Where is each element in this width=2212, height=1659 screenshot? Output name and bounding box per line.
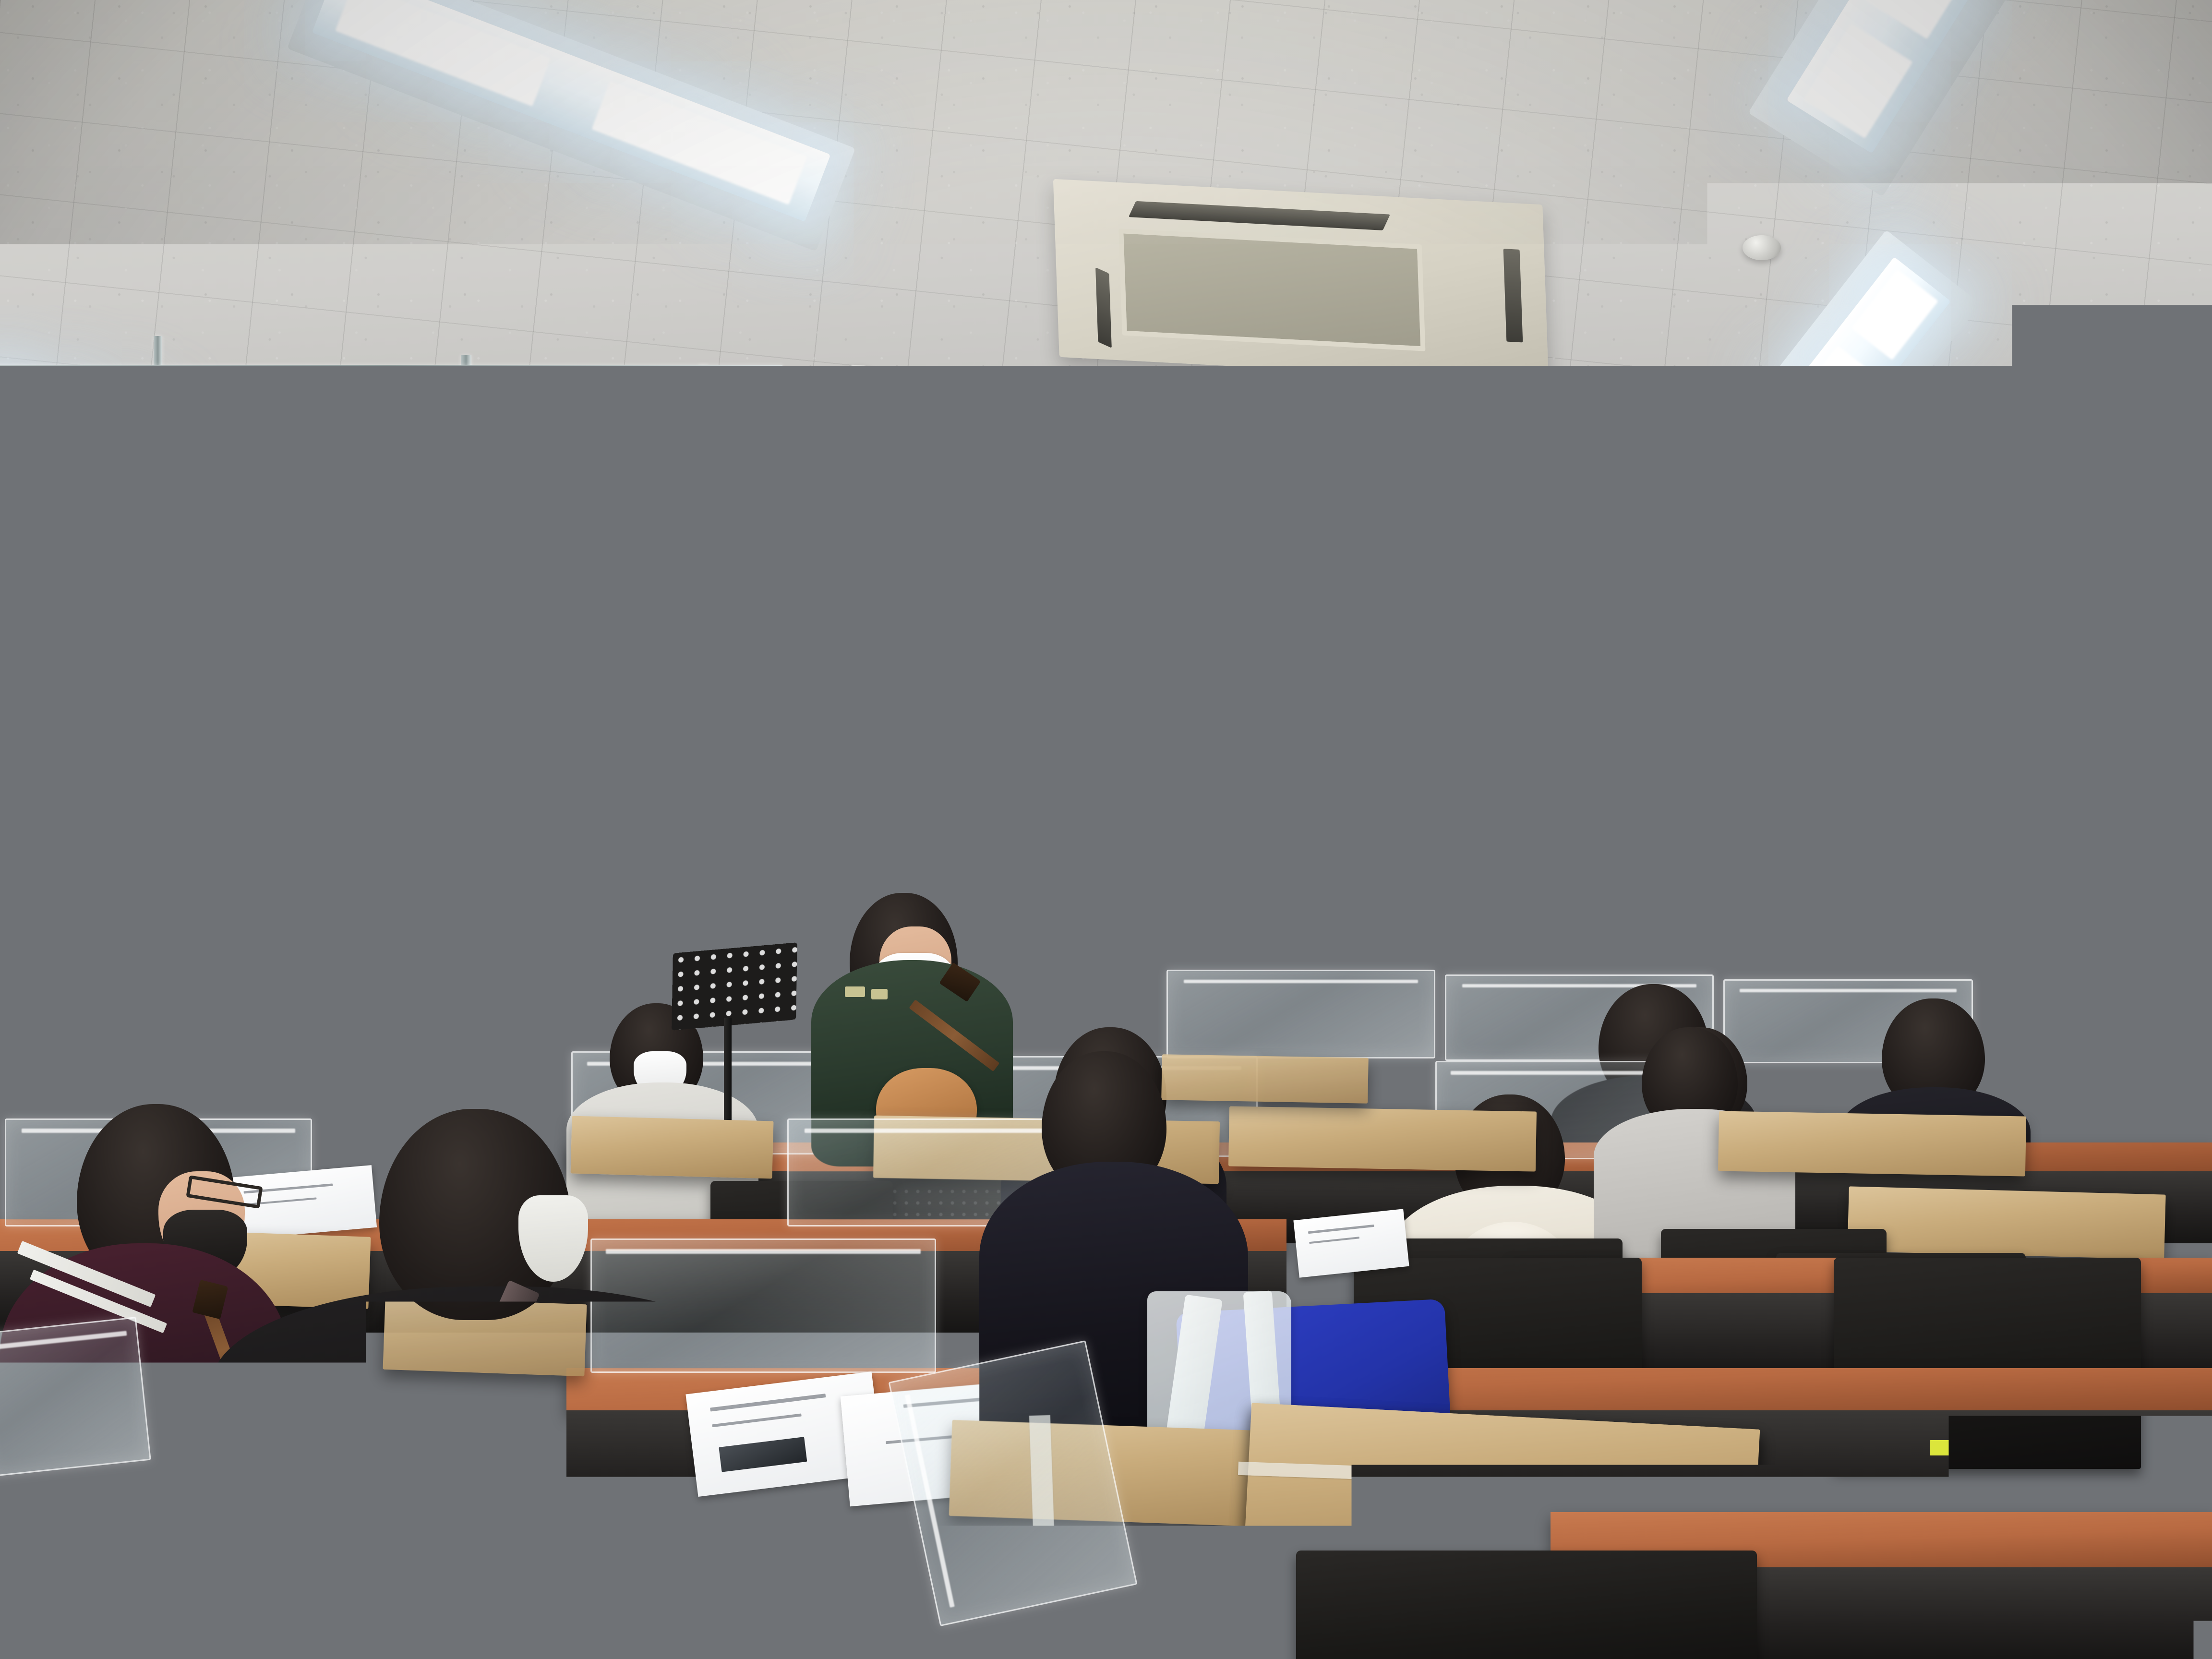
ac-filter-panel: [1118, 228, 1426, 351]
slide-note-text: 손목을 악기의 헤드쪽으로 약 45도 정도 틀어주지: [1517, 778, 1771, 803]
glass-reflection-1: [15, 408, 373, 695]
whiteboard-glare-4: [1204, 819, 1265, 825]
ceiling-dome-sensor-1: [835, 365, 881, 395]
paper-line: [1309, 1237, 1360, 1244]
ceiling-projector: [933, 429, 1160, 536]
instructor-jacket-epaulette-1: [845, 986, 865, 997]
divider-highlight: [606, 1249, 921, 1254]
glass-note-1: [235, 869, 326, 946]
whiteboard-glare-1: [935, 838, 1027, 842]
ceiling-air-conditioner: [1053, 179, 1549, 383]
ukulele-box-6: [1161, 1054, 1369, 1103]
chord-string-label-1: 1번줄: [1405, 838, 1436, 858]
instructor-jacket-epaulette-2: [871, 989, 888, 999]
classroom-photo: 우쿨렐레 코드 알아보기 G7 손목을 악기의 헤드쪽으로 약 45도 정도 틀…: [0, 0, 2212, 1659]
ukulele-box-4: [1718, 1111, 2026, 1176]
glass-note-3: [158, 790, 185, 852]
chair-foreground-left: [77, 1527, 326, 1659]
chord-string-label-2: 2번줄: [1402, 890, 1433, 910]
glass-mullion-mid: [158, 682, 710, 687]
ceiling-dome-sensor-3: [1743, 235, 1781, 260]
music-stand-desk: [672, 942, 797, 1031]
glass-reflected-dot-3: [144, 921, 161, 938]
whiteboard-glare-2: [1089, 828, 1142, 834]
glass-note-4: [14, 970, 19, 1014]
whiteboard-glare-3: [1150, 825, 1189, 828]
poster-graphic-2: [2141, 716, 2212, 812]
slide-chord-name: G7: [1418, 745, 1485, 808]
chord-string-label-3: 3번줄: [1399, 942, 1430, 962]
wall-poster: [2131, 571, 2212, 1128]
glass-sticker-1: [0, 926, 72, 947]
slide-title: 우쿨렐레 코드 알아보기: [1310, 675, 1817, 750]
jacket-sleeve-right: [603, 1334, 770, 1659]
divider-highlight: [1184, 980, 1418, 983]
glass-mullion-1: [461, 355, 471, 1104]
whiteboard-glare-5: [1123, 852, 1158, 854]
exit-arrow-icon: [7, 522, 28, 553]
glass-reflected-chord-name-2: G7: [336, 768, 381, 810]
divider-highlight: [1740, 989, 1957, 992]
ac-vent-right: [1503, 249, 1523, 342]
projection-screen: 우쿨렐레 코드 알아보기 G7 손목을 악기의 헤드쪽으로 약 45도 정도 틀…: [1293, 603, 1823, 990]
box-tape: [1238, 1462, 1767, 1493]
ukulele-box-1: [571, 1116, 774, 1179]
divider-back-1: [1166, 970, 1435, 1058]
poster-graphic-3: [2152, 861, 2212, 933]
ac-vent-top: [1129, 201, 1390, 230]
glass-mullion-2: [698, 365, 708, 1046]
glass-reflected-dot-1: [144, 865, 161, 882]
ukulele-box-5: [1847, 1186, 2165, 1259]
ac-vent-left: [1095, 267, 1112, 349]
poster-graphic-4: [2146, 983, 2212, 1050]
glass-mullion-3: [154, 336, 162, 1133]
glass-sticker-2: [0, 953, 77, 986]
glass-reflected-dot-2: [167, 894, 184, 911]
divider-highlight: [0, 1331, 127, 1350]
plastic-bag-badge: [2098, 1105, 2122, 1122]
divider-foreground-left: [0, 1317, 151, 1477]
projector-label-tag: [954, 493, 993, 512]
exit-sign: [0, 509, 48, 566]
desk-tag-yellow: [758, 1325, 783, 1336]
chair-foreground-bottom: [1296, 1551, 1757, 1659]
ukulele-box-3: [1228, 1106, 1537, 1171]
poster-graphic-1: [2150, 605, 2207, 658]
paper-line: [1308, 1225, 1374, 1234]
glass-mullion-header: [0, 365, 782, 373]
projector-lens: [1084, 446, 1144, 496]
chair-tag-yellow: [1930, 1440, 1963, 1455]
glass-note-2: [336, 871, 422, 948]
handout-paper-1: [1293, 1209, 1409, 1277]
music-stand-pole: [724, 1018, 732, 1128]
